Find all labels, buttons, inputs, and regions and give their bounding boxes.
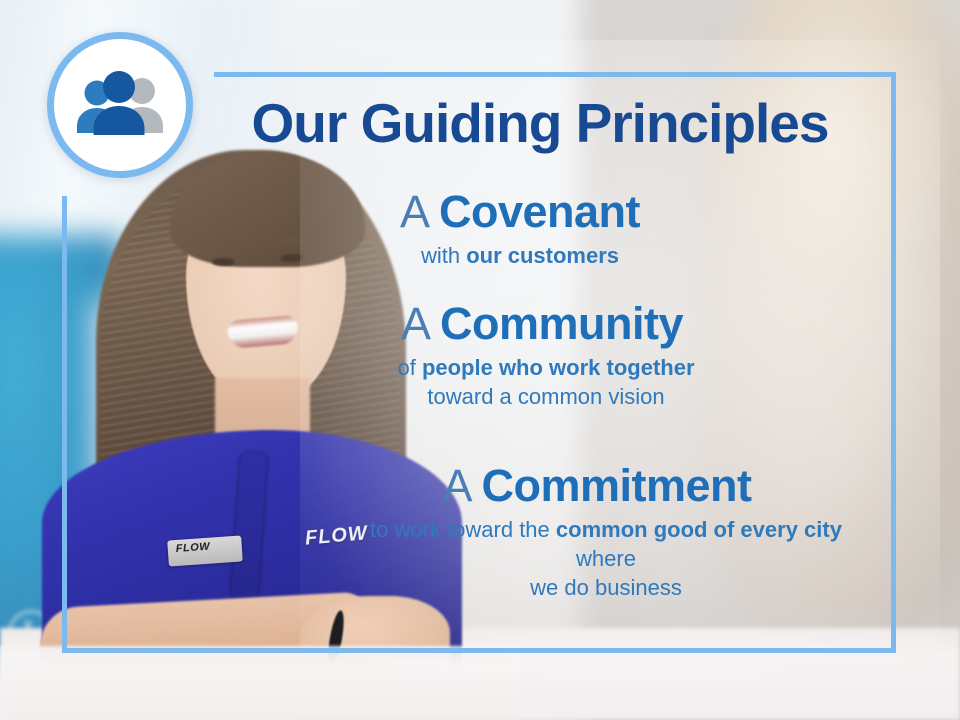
frame-border-bottom — [62, 648, 896, 653]
associate-eye-left — [212, 258, 235, 266]
principle-community-subtext: of people who work together toward a com… — [240, 353, 800, 411]
principle-covenant-sub-prefix: with — [421, 243, 466, 268]
principle-covenant-subtext: with our customers — [240, 241, 800, 270]
principle-community-article: A — [401, 298, 440, 349]
people-badge — [47, 32, 193, 178]
principle-commitment-subtext: to work toward the common good of every … — [283, 515, 843, 602]
principle-community: A Community of people who work together … — [240, 300, 800, 411]
principle-covenant-sub-bold: our customers — [466, 243, 619, 268]
principle-commitment-sub-line2: we do business — [369, 573, 843, 602]
principle-commitment-sub-suffix: where — [576, 546, 636, 571]
principle-community-sub-line2: toward a common vision — [292, 382, 800, 411]
principle-covenant-article: A — [400, 186, 439, 237]
guiding-principles-graphic: FLOW FLOW Our Guiding Principles A Coven… — [0, 0, 960, 720]
photo-table-edge — [0, 646, 520, 720]
principle-commitment: A Commitment to work toward the common g… — [283, 462, 843, 602]
principle-community-keyword: Community — [440, 298, 683, 349]
principle-community-sub-prefix: of — [397, 355, 421, 380]
principle-commitment-article: A — [442, 460, 481, 511]
principle-commitment-keyword: Commitment — [482, 460, 752, 511]
principle-covenant-keyword: Covenant — [439, 186, 640, 237]
principle-commitment-sub-prefix: to work toward the — [370, 517, 556, 542]
frame-border-top — [214, 72, 896, 77]
group-of-people-icon — [72, 69, 168, 141]
frame-border-left — [62, 196, 67, 653]
principle-covenant-heading: A Covenant — [240, 188, 800, 235]
principle-commitment-heading: A Commitment — [283, 462, 843, 509]
associate-name-badge: FLOW — [167, 535, 243, 566]
principle-community-heading: A Community — [240, 300, 800, 347]
frame-border-right — [891, 72, 896, 653]
principle-commitment-sub-bold: common good of every city — [556, 517, 842, 542]
principle-community-sub-bold: people who work together — [422, 355, 695, 380]
name-badge-text: FLOW — [175, 541, 210, 555]
principle-covenant: A Covenant with our customers — [240, 188, 800, 270]
page-title: Our Guiding Principles — [210, 96, 870, 151]
associate-eyebrow-left — [208, 243, 238, 248]
